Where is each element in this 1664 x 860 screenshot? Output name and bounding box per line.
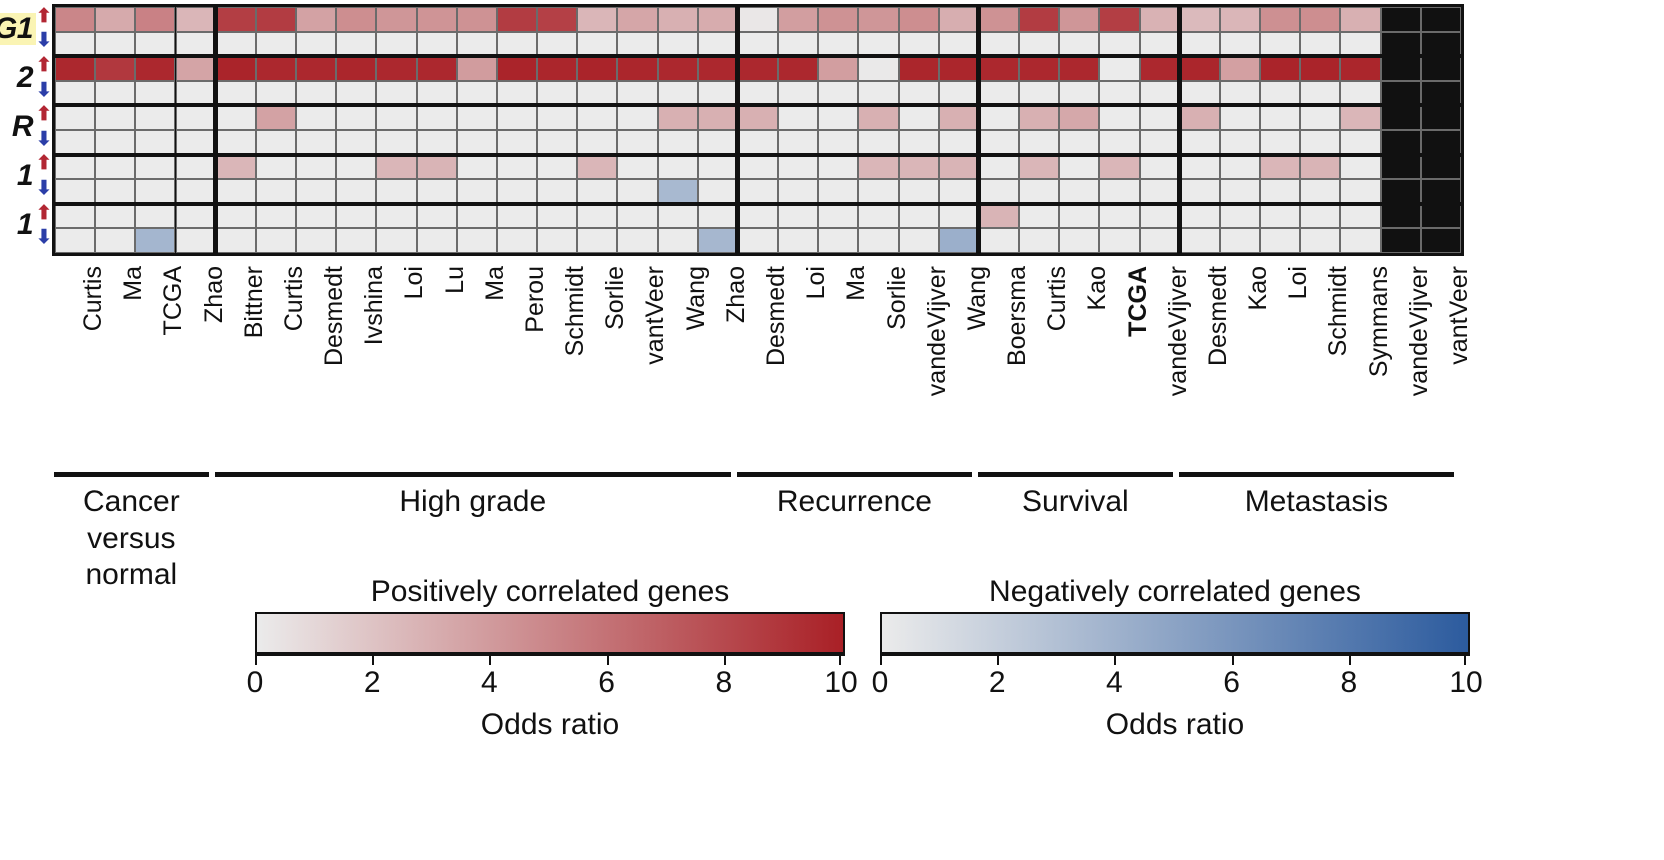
legend-tick — [372, 656, 374, 665]
heatmap-cell — [1180, 105, 1220, 130]
heatmap-cell — [256, 204, 296, 229]
direction-arrows: ⬆⬇ — [36, 53, 52, 102]
heatmap-cell — [818, 179, 858, 204]
heatmap-cell — [858, 179, 898, 204]
heatmap-cell — [617, 32, 657, 57]
heatmap-cell — [979, 204, 1019, 229]
heatmap-cell — [55, 155, 95, 180]
heatmap-cell — [55, 204, 95, 229]
heatmap-cell — [457, 7, 497, 32]
column-label: Symmans — [1337, 262, 1377, 462]
heatmap-cell — [417, 130, 457, 155]
heatmap-cell — [778, 179, 818, 204]
heatmap-cell — [537, 130, 577, 155]
heatmap-cell — [738, 81, 778, 106]
heatmap-cell — [979, 7, 1019, 32]
heatmap-cell — [818, 105, 858, 130]
heatmap-cell — [216, 7, 256, 32]
heatmap-cell — [497, 56, 537, 81]
heatmap-cell — [899, 32, 939, 57]
heatmap-cell — [818, 32, 858, 57]
heatmap-cell — [537, 179, 577, 204]
heatmap-cell — [939, 32, 979, 57]
heatmap-cell — [1381, 130, 1421, 155]
heatmap-cell — [497, 7, 537, 32]
heatmap-cell — [658, 7, 698, 32]
heatmap-cell — [1260, 179, 1300, 204]
heatmap-cell — [778, 105, 818, 130]
heatmap-cell — [135, 81, 175, 106]
column-label: vandeVijver — [896, 262, 936, 462]
column-label: Wang — [655, 262, 695, 462]
heatmap-cell — [296, 32, 336, 57]
legend-tick — [880, 656, 882, 665]
heatmap-cell — [256, 7, 296, 32]
group-bracket-row: CancerversusnormalHigh gradeRecurrenceSu… — [52, 472, 1464, 592]
heatmap-cell — [176, 204, 216, 229]
column-label: Boersma — [976, 262, 1016, 462]
heatmap-cell — [577, 179, 617, 204]
group-name-line: versus — [54, 521, 209, 558]
column-label: TCGA — [1096, 262, 1136, 462]
heatmap-cell — [256, 32, 296, 57]
heatmap-cell — [979, 105, 1019, 130]
column-label: Zhao — [695, 262, 735, 462]
heatmap-cell — [376, 105, 416, 130]
heatmap-cell — [1340, 7, 1380, 32]
heatmap-cell — [497, 130, 537, 155]
heatmap-cell — [417, 105, 457, 130]
column-label-row: CurtisMaTCGAZhaoBittnerCurtisDesmedtIvsh… — [52, 262, 1464, 462]
heatmap-cell — [778, 56, 818, 81]
heatmap-cell — [176, 105, 216, 130]
heatmap-cell — [1260, 81, 1300, 106]
heatmap-cell — [1421, 56, 1461, 81]
heatmap-cell — [176, 56, 216, 81]
heatmap-cell — [1099, 204, 1139, 229]
down-arrow-icon: ⬇ — [36, 176, 52, 201]
heatmap-cell — [939, 130, 979, 155]
heatmap-cell — [1180, 130, 1220, 155]
heatmap-cell — [417, 81, 457, 106]
heatmap-cell — [216, 228, 256, 253]
heatmap-cell — [1381, 179, 1421, 204]
heatmap-cell — [698, 56, 738, 81]
heatmap-cell — [979, 179, 1019, 204]
heatmap-cell — [176, 179, 216, 204]
heatmap-cell — [1220, 7, 1260, 32]
heatmap-cell — [95, 7, 135, 32]
heatmap-cell — [818, 56, 858, 81]
heatmap-cell — [1260, 7, 1300, 32]
legend-tick-label: 4 — [481, 666, 498, 700]
heatmap-cell — [135, 105, 175, 130]
heatmap-cell — [858, 155, 898, 180]
group-name: Cancerversusnormal — [54, 484, 209, 594]
heatmap-cell — [1220, 179, 1260, 204]
heatmap-cell — [497, 105, 537, 130]
legend-tick — [1114, 656, 1116, 665]
legend-tick — [1464, 656, 1466, 665]
column-label: vantVeer — [614, 262, 654, 462]
heatmap-cell — [497, 204, 537, 229]
heatmap-cell — [1099, 81, 1139, 106]
gene-name: 1 — [14, 160, 36, 192]
heatmap-cell — [778, 228, 818, 253]
direction-arrows: ⬆⬇ — [36, 201, 52, 250]
heatmap-cell — [858, 32, 898, 57]
heatmap-cell — [1019, 7, 1059, 32]
heatmap-cell — [537, 105, 577, 130]
heatmap-cell — [1019, 155, 1059, 180]
heatmap-cell — [658, 204, 698, 229]
column-label: Ma — [454, 262, 494, 462]
heatmap-cell — [858, 81, 898, 106]
heatmap-cell — [818, 81, 858, 106]
gene-name: R — [9, 111, 36, 143]
heatmap-cell — [336, 179, 376, 204]
legend-negatively-correlated: Negatively correlated genes 0246810 Odds… — [880, 575, 1470, 742]
heatmap-cell — [698, 130, 738, 155]
heatmap-cell — [256, 56, 296, 81]
legend-pos-colorbar — [255, 612, 845, 654]
heatmap-cell — [376, 179, 416, 204]
column-label: Loi — [775, 262, 815, 462]
heatmap-cell — [858, 130, 898, 155]
heatmap-cell — [1019, 179, 1059, 204]
legend-tick-label: 8 — [715, 666, 732, 700]
heatmap-cell — [1340, 228, 1380, 253]
row-gene-label: G1 — [0, 4, 36, 53]
column-label: Curtis — [253, 262, 293, 462]
heatmap-cell — [899, 130, 939, 155]
legend-tick-label: 0 — [872, 666, 889, 700]
heatmap-cell — [216, 130, 256, 155]
heatmap-cell — [1381, 204, 1421, 229]
legend-pos-axis — [255, 654, 845, 666]
heatmap-cell — [1340, 105, 1380, 130]
heatmap-figure: G1⬆⬇2⬆⬇R⬆⬇1⬆⬇1⬆⬇ CurtisMaTCGAZhaoBittner… — [0, 0, 1664, 860]
column-label: Schmidt — [534, 262, 574, 462]
heatmap-cell — [497, 81, 537, 106]
gene-name: G1 — [0, 13, 36, 45]
heatmap-cell — [818, 204, 858, 229]
heatmap-row — [55, 56, 1461, 81]
column-label: Curtis — [1016, 262, 1056, 462]
group-name-line: Metastasis — [1179, 484, 1454, 521]
heatmap-cell — [95, 32, 135, 57]
heatmap-cell — [698, 179, 738, 204]
heatmap-cell — [617, 179, 657, 204]
heatmap-cell — [1140, 81, 1180, 106]
column-label: Zhao — [173, 262, 213, 462]
heatmap-cell — [176, 228, 216, 253]
heatmap-cell — [537, 155, 577, 180]
heatmap-cell — [577, 204, 617, 229]
heatmap-cell — [577, 105, 617, 130]
heatmap-cell — [1140, 228, 1180, 253]
legend-neg-title: Negatively correlated genes — [880, 575, 1470, 609]
heatmap-cell — [296, 7, 336, 32]
heatmap-cell — [1260, 105, 1300, 130]
heatmap-cell — [1180, 155, 1220, 180]
column-label: Schmidt — [1297, 262, 1337, 462]
heatmap-cell — [1381, 81, 1421, 106]
heatmap-cell — [336, 7, 376, 32]
heatmap-cell — [336, 32, 376, 57]
heatmap-cell — [1220, 204, 1260, 229]
group-name: Survival — [978, 484, 1173, 521]
heatmap-cell — [658, 105, 698, 130]
heatmap-row — [55, 179, 1461, 204]
heatmap-cell — [216, 56, 256, 81]
heatmap-cell — [1421, 130, 1461, 155]
group-name: Metastasis — [1179, 484, 1454, 521]
heatmap-cell — [1140, 204, 1180, 229]
heatmap-cell — [135, 56, 175, 81]
heatmap-cell — [658, 228, 698, 253]
heatmap-cell — [1220, 32, 1260, 57]
heatmap-cell — [617, 228, 657, 253]
legend-pos-tick-labels: 0246810 — [255, 666, 845, 702]
heatmap-cell — [336, 204, 376, 229]
heatmap-cell — [738, 204, 778, 229]
group-bracket — [1179, 472, 1454, 477]
up-arrow-icon: ⬆ — [36, 53, 52, 78]
heatmap-cell — [1180, 81, 1220, 106]
heatmap-cell — [1059, 155, 1099, 180]
heatmap-cell — [1260, 56, 1300, 81]
heatmap-cell — [778, 130, 818, 155]
group-name-line: High grade — [215, 484, 731, 521]
heatmap-cell — [658, 56, 698, 81]
heatmap-cell — [939, 228, 979, 253]
column-label: TCGA — [132, 262, 172, 462]
heatmap-cell — [176, 130, 216, 155]
heatmap-cell — [1180, 179, 1220, 204]
heatmap-cell — [296, 81, 336, 106]
column-label: Desmedt — [1177, 262, 1217, 462]
heatmap-cell — [738, 155, 778, 180]
legend-tick-label: 2 — [364, 666, 381, 700]
heatmap-cell — [95, 155, 135, 180]
heatmap-cell — [457, 32, 497, 57]
heatmap-cell — [1140, 105, 1180, 130]
heatmap-cell — [376, 32, 416, 57]
heatmap-cell — [1260, 130, 1300, 155]
heatmap-cell — [1260, 155, 1300, 180]
legend-pos-axis-label: Odds ratio — [255, 708, 845, 742]
heatmap-cell — [1180, 204, 1220, 229]
heatmap-cell — [858, 7, 898, 32]
heatmap-cell — [95, 81, 135, 106]
heatmap-cell — [577, 56, 617, 81]
row-gene-label: R — [0, 102, 36, 151]
heatmap-cell — [296, 204, 336, 229]
heatmap-row — [55, 7, 1461, 32]
heatmap-cell — [738, 32, 778, 57]
group-bracket — [215, 472, 731, 477]
column-label: Ma — [815, 262, 855, 462]
heatmap-cell — [55, 130, 95, 155]
heatmap-cell — [1260, 204, 1300, 229]
row-label-gutter: G1⬆⬇2⬆⬇R⬆⬇1⬆⬇1⬆⬇ — [0, 4, 52, 256]
heatmap-cell — [376, 130, 416, 155]
heatmap-cell — [1381, 228, 1421, 253]
heatmap-cell — [899, 7, 939, 32]
legend-tick-label: 2 — [989, 666, 1006, 700]
heatmap-cell — [457, 130, 497, 155]
heatmap-cell — [1300, 32, 1340, 57]
heatmap-cell — [1421, 228, 1461, 253]
heatmap-cell — [1059, 56, 1099, 81]
gene-separator — [55, 153, 1461, 157]
heatmap-cell — [939, 204, 979, 229]
heatmap-cell — [698, 105, 738, 130]
legend-tick — [607, 656, 609, 665]
heatmap-cell — [457, 81, 497, 106]
heatmap-cell — [1340, 155, 1380, 180]
heatmap-cell — [1140, 56, 1180, 81]
direction-arrows: ⬆⬇ — [36, 4, 52, 53]
heatmap-cell — [858, 228, 898, 253]
heatmap-cell — [818, 155, 858, 180]
column-label: Ivshina — [333, 262, 373, 462]
heatmap-cell — [55, 228, 95, 253]
heatmap-cell — [376, 155, 416, 180]
heatmap-cell — [1340, 56, 1380, 81]
heatmap-cell — [216, 81, 256, 106]
legend-neg-colorbar — [880, 612, 1470, 654]
heatmap-cell — [939, 179, 979, 204]
heatmap-cell — [1381, 32, 1421, 57]
heatmap-cell — [658, 81, 698, 106]
heatmap-cell — [1019, 32, 1059, 57]
heatmap-cell — [899, 204, 939, 229]
heatmap-cell — [577, 228, 617, 253]
heatmap-cell — [1220, 81, 1260, 106]
row-gene-label: 2 — [0, 53, 36, 102]
heatmap-row — [55, 105, 1461, 130]
heatmap-cell — [979, 56, 1019, 81]
heatmap-cell — [256, 155, 296, 180]
heatmap-cell — [55, 81, 95, 106]
legend-tick-label: 8 — [1340, 666, 1357, 700]
heatmap-cell — [95, 56, 135, 81]
heatmap-cell — [497, 179, 537, 204]
heatmap-cell — [1059, 81, 1099, 106]
heatmap-row — [55, 81, 1461, 106]
heatmap-cell — [336, 228, 376, 253]
heatmap-cell — [617, 130, 657, 155]
heatmap-row — [55, 130, 1461, 155]
heatmap-cell — [1340, 32, 1380, 57]
heatmap-cell — [979, 81, 1019, 106]
heatmap-cell — [1381, 56, 1421, 81]
heatmap-cell — [1300, 105, 1340, 130]
legend-tick — [1349, 656, 1351, 665]
column-label-text: vantVeer — [1447, 266, 1472, 365]
heatmap-cell — [899, 56, 939, 81]
column-label: vantVeer — [1418, 262, 1458, 462]
legend-tick-label: 0 — [247, 666, 264, 700]
heatmap-cell — [1421, 204, 1461, 229]
column-label: Desmedt — [735, 262, 775, 462]
heatmap-row — [55, 228, 1461, 253]
heatmap-cell — [256, 105, 296, 130]
heatmap-cell — [417, 155, 457, 180]
legend-tick — [724, 656, 726, 665]
row-gene-label: 1 — [0, 152, 36, 201]
heatmap-cell — [1180, 7, 1220, 32]
heatmap-cell — [1381, 7, 1421, 32]
legend-tick-label: 6 — [1223, 666, 1240, 700]
heatmap-cell — [1140, 130, 1180, 155]
heatmap-cell — [296, 228, 336, 253]
heatmap-cell — [1381, 105, 1421, 130]
legend-tick — [839, 656, 841, 665]
gene-name: 2 — [14, 62, 36, 94]
heatmap-cell — [658, 32, 698, 57]
heatmap-cell — [216, 32, 256, 57]
gene-separator — [55, 54, 1461, 58]
heatmap-cell — [537, 56, 577, 81]
column-label: Perou — [494, 262, 534, 462]
heatmap-cell — [1019, 228, 1059, 253]
heatmap-cell — [296, 179, 336, 204]
heatmap-cell — [95, 130, 135, 155]
heatmap-cell — [1300, 179, 1340, 204]
heatmap-cell — [698, 204, 738, 229]
heatmap-cell — [1300, 204, 1340, 229]
heatmap-cell — [1059, 7, 1099, 32]
heatmap-cell — [939, 155, 979, 180]
heatmap-cell — [658, 155, 698, 180]
heatmap-cell — [979, 32, 1019, 57]
heatmap-cell — [1059, 105, 1099, 130]
legend-tick-label: 10 — [824, 666, 857, 700]
heatmap-cell — [1381, 155, 1421, 180]
heatmap-cell — [1340, 130, 1380, 155]
heatmap-cell — [778, 155, 818, 180]
heatmap-cell — [698, 228, 738, 253]
heatmap-cell — [336, 155, 376, 180]
column-label: Wang — [936, 262, 976, 462]
heatmap-cell — [216, 179, 256, 204]
group-separator — [213, 7, 218, 253]
gene-name: 1 — [14, 209, 36, 241]
heatmap-cell — [1300, 56, 1340, 81]
group-name-line: Cancer — [54, 484, 209, 521]
heatmap-cell — [537, 204, 577, 229]
down-arrow-icon: ⬇ — [36, 29, 52, 54]
heatmap-cell — [1140, 7, 1180, 32]
heatmap-cell — [818, 7, 858, 32]
heatmap-cell — [818, 130, 858, 155]
heatmap-cell — [658, 179, 698, 204]
heatmap-row — [55, 155, 1461, 180]
heatmap-cell — [577, 81, 617, 106]
heatmap-cell — [55, 7, 95, 32]
heatmap-cell — [1300, 81, 1340, 106]
group-name: High grade — [215, 484, 731, 521]
direction-arrows: ⬆⬇ — [36, 102, 52, 151]
heatmap-cell — [738, 228, 778, 253]
up-arrow-icon: ⬆ — [36, 201, 52, 226]
heatmap-cell — [577, 155, 617, 180]
column-label: Loi — [1257, 262, 1297, 462]
heatmap-cell — [778, 32, 818, 57]
